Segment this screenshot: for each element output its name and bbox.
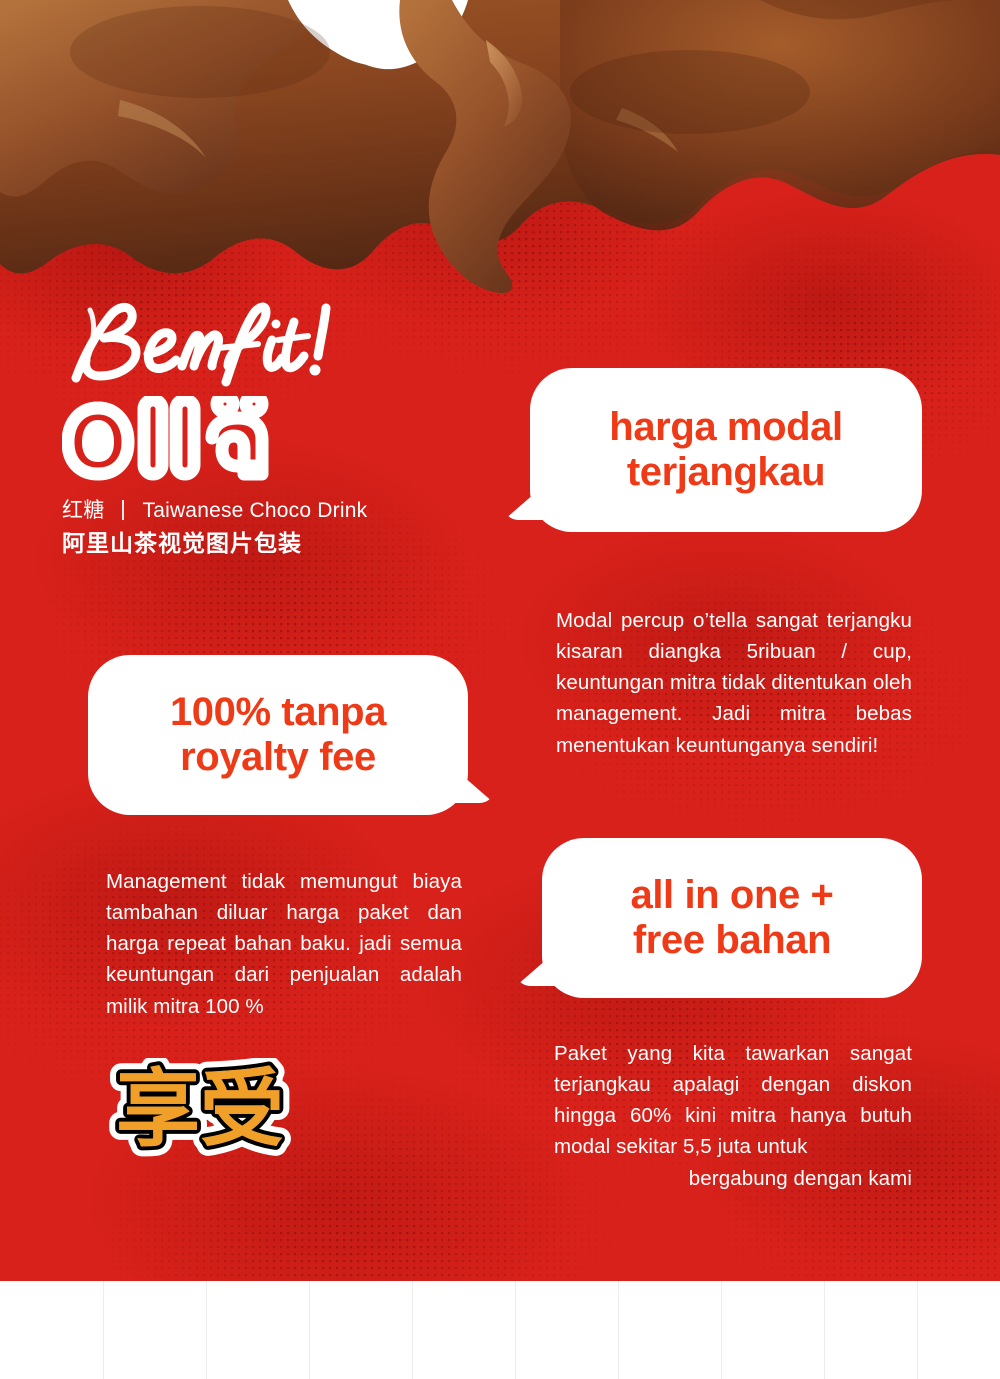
bubble-tail-icon [516,946,562,986]
speech-bubble-all-in-one: all in one + free bahan [542,838,922,998]
brand-sub-cn: 红糖 [62,499,104,522]
chinese-sticker-enjoy: 享受 享受 享受 [100,1058,300,1163]
chocolate-splash-graphic [0,0,1000,300]
column-guide [103,1281,104,1379]
column-guide [824,1281,825,1379]
bubble-headline: 100% tanpa royalty fee [146,690,410,780]
column-guide [618,1281,619,1379]
brand-subtitle-line-2: 阿里山茶视觉图片包装 [62,528,402,558]
olla-logo-wordmark [62,396,292,481]
body-copy-harga-modal: Modal percup o’tella sangat terjangku ki… [556,605,912,761]
brand-subtitle-line-1: 红糖 Taiwanese Choco Drink [62,497,402,525]
brand-block: 红糖 Taiwanese Choco Drink 阿里山茶视觉图片包装 [62,300,402,558]
body-copy-main: Paket yang kita tawarkan sangat terjangk… [554,1042,912,1158]
sticker-text-fill: 享受 [116,1060,284,1158]
column-guide [721,1281,722,1379]
bottom-column-guides-strip [0,1281,1000,1379]
benfit-script-headline [62,300,352,390]
speech-bubble-royalty-fee: 100% tanpa royalty fee [88,655,468,815]
brand-sub-en: Taiwanese Choco Drink [143,499,368,522]
bubble-headline: all in one + free bahan [606,873,857,963]
bubble-tail-icon [504,480,550,520]
bubble-headline: harga modal terjangkau [585,405,866,495]
column-guide [206,1281,207,1379]
body-copy-last-line: bergabung dengan kami [554,1163,912,1194]
column-guide [917,1281,918,1379]
poster-root: 红糖 Taiwanese Choco Drink 阿里山茶视觉图片包装 harg… [0,0,1000,1379]
bubble-tail-icon [448,763,494,803]
speech-bubble-harga-modal: harga modal terjangkau [530,368,922,532]
body-copy-royalty-fee: Management tidak memungut biaya tambahan… [106,866,462,1022]
column-guide [309,1281,310,1379]
body-copy-all-in-one: Paket yang kita tawarkan sangat terjangk… [554,1038,912,1194]
brand-sub-divider [122,500,124,520]
column-guide [412,1281,413,1379]
column-guide [515,1281,516,1379]
